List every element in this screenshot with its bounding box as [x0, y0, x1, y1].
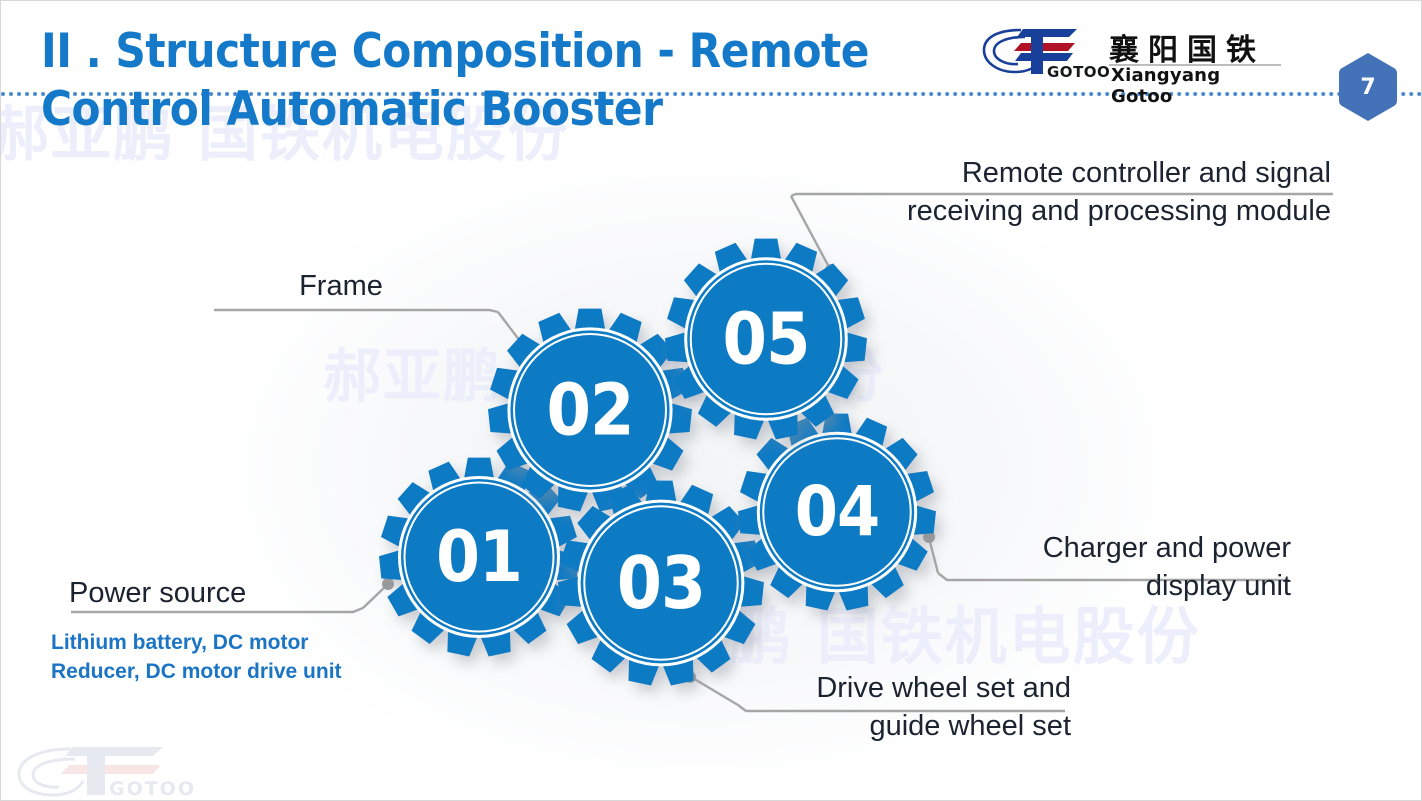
gear-05[interactable]: 05: [665, 239, 867, 440]
page-title: II . Structure Composition - Remote Cont…: [41, 23, 921, 139]
gear-04[interactable]: 04: [738, 414, 936, 611]
callout-power-source: Power source: [69, 574, 329, 612]
gear-03[interactable]: 03: [558, 481, 764, 686]
callout-remote-module: Remote controller and signal receiving a…: [861, 154, 1331, 230]
callout-charger-unit: Charger and power display unit: [961, 529, 1291, 605]
power-source-detail-line: Lithium battery, DC motor: [51, 628, 451, 657]
power-source-detail-line: Reducer, DC motor drive unit: [51, 657, 451, 686]
gear-number-03: 03: [617, 541, 705, 625]
slide-canvas: 郝亚鹏 国铁机电股份 郝亚鹏 国铁机电股份 郝亚鹏 国铁机电股份 GOTOO I…: [0, 0, 1422, 801]
callout-drive-wheel: Drive wheel set and guide wheel set: [741, 669, 1071, 745]
gear-number-05: 05: [723, 298, 810, 381]
gear-number-01: 01: [436, 516, 522, 598]
power-source-detail: Lithium battery, DC motorReducer, DC mot…: [51, 628, 451, 686]
gear-number-04: 04: [795, 472, 879, 552]
gear-number-02: 02: [547, 369, 634, 452]
callout-frame: Frame: [191, 267, 491, 305]
